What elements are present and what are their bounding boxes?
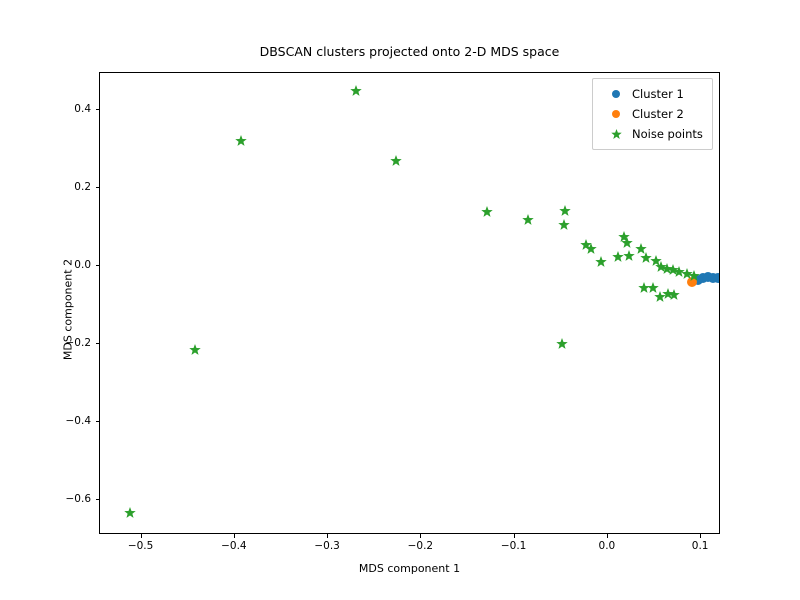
legend-entry-cluster-2: Cluster 2	[600, 104, 703, 124]
y-tick-mark	[96, 109, 100, 110]
x-tick-mark	[234, 534, 235, 538]
y-tick-label: 0.2	[74, 181, 91, 193]
x-tick-mark	[141, 534, 142, 538]
data-point-noise-points	[556, 338, 568, 350]
data-point-noise-points	[621, 237, 633, 249]
y-tick-mark	[96, 265, 100, 266]
data-point-noise-points	[688, 270, 700, 282]
legend-entry-noise-points: Noise points	[600, 124, 703, 144]
legend-circle-icon	[600, 90, 632, 98]
y-tick-label: 0.0	[74, 259, 91, 271]
y-tick-mark	[96, 343, 100, 344]
y-tick-mark	[96, 421, 100, 422]
x-tick-mark	[607, 534, 608, 538]
data-point-noise-points	[668, 289, 680, 301]
chart-title: DBSCAN clusters projected onto 2-D MDS s…	[99, 44, 720, 59]
legend-label: Cluster 1	[632, 87, 684, 101]
x-tick-label: −0.4	[221, 540, 247, 552]
x-tick-label: −0.5	[128, 540, 154, 552]
matplotlib-figure: DBSCAN clusters projected onto 2-D MDS s…	[0, 0, 800, 600]
x-axis-label: MDS component 1	[99, 562, 720, 575]
data-point-noise-points	[189, 344, 201, 356]
x-tick-mark	[420, 534, 421, 538]
x-tick-label: −0.3	[314, 540, 340, 552]
data-point-noise-points	[390, 155, 402, 167]
x-tick-label: 0.0	[599, 540, 616, 552]
data-point-noise-points	[623, 250, 635, 262]
data-point-noise-points	[558, 219, 570, 231]
data-point-noise-points	[124, 507, 136, 519]
data-point-noise-points	[350, 85, 362, 97]
legend-entry-cluster-1: Cluster 1	[600, 84, 703, 104]
data-point-noise-points	[522, 214, 534, 226]
chart-legend: Cluster 1Cluster 2Noise points	[592, 78, 713, 150]
y-tick-label: 0.4	[74, 103, 91, 115]
x-tick-label: −0.1	[501, 540, 527, 552]
y-axis-label: MDS component 2	[62, 79, 75, 541]
x-tick-mark	[700, 534, 701, 538]
data-point-noise-points	[595, 256, 607, 268]
legend-circle-icon	[600, 110, 632, 118]
data-point-noise-points	[481, 206, 493, 218]
data-point-noise-points	[559, 205, 571, 217]
x-tick-mark	[514, 534, 515, 538]
data-point-noise-points	[585, 243, 597, 255]
data-point-noise-points	[235, 135, 247, 147]
x-tick-label: −0.2	[408, 540, 434, 552]
x-tick-label: 0.1	[692, 540, 709, 552]
legend-label: Cluster 2	[632, 107, 684, 121]
legend-label: Noise points	[632, 127, 703, 141]
y-tick-mark	[96, 499, 100, 500]
x-tick-mark	[327, 534, 328, 538]
y-tick-mark	[96, 187, 100, 188]
legend-star-icon	[600, 129, 632, 140]
